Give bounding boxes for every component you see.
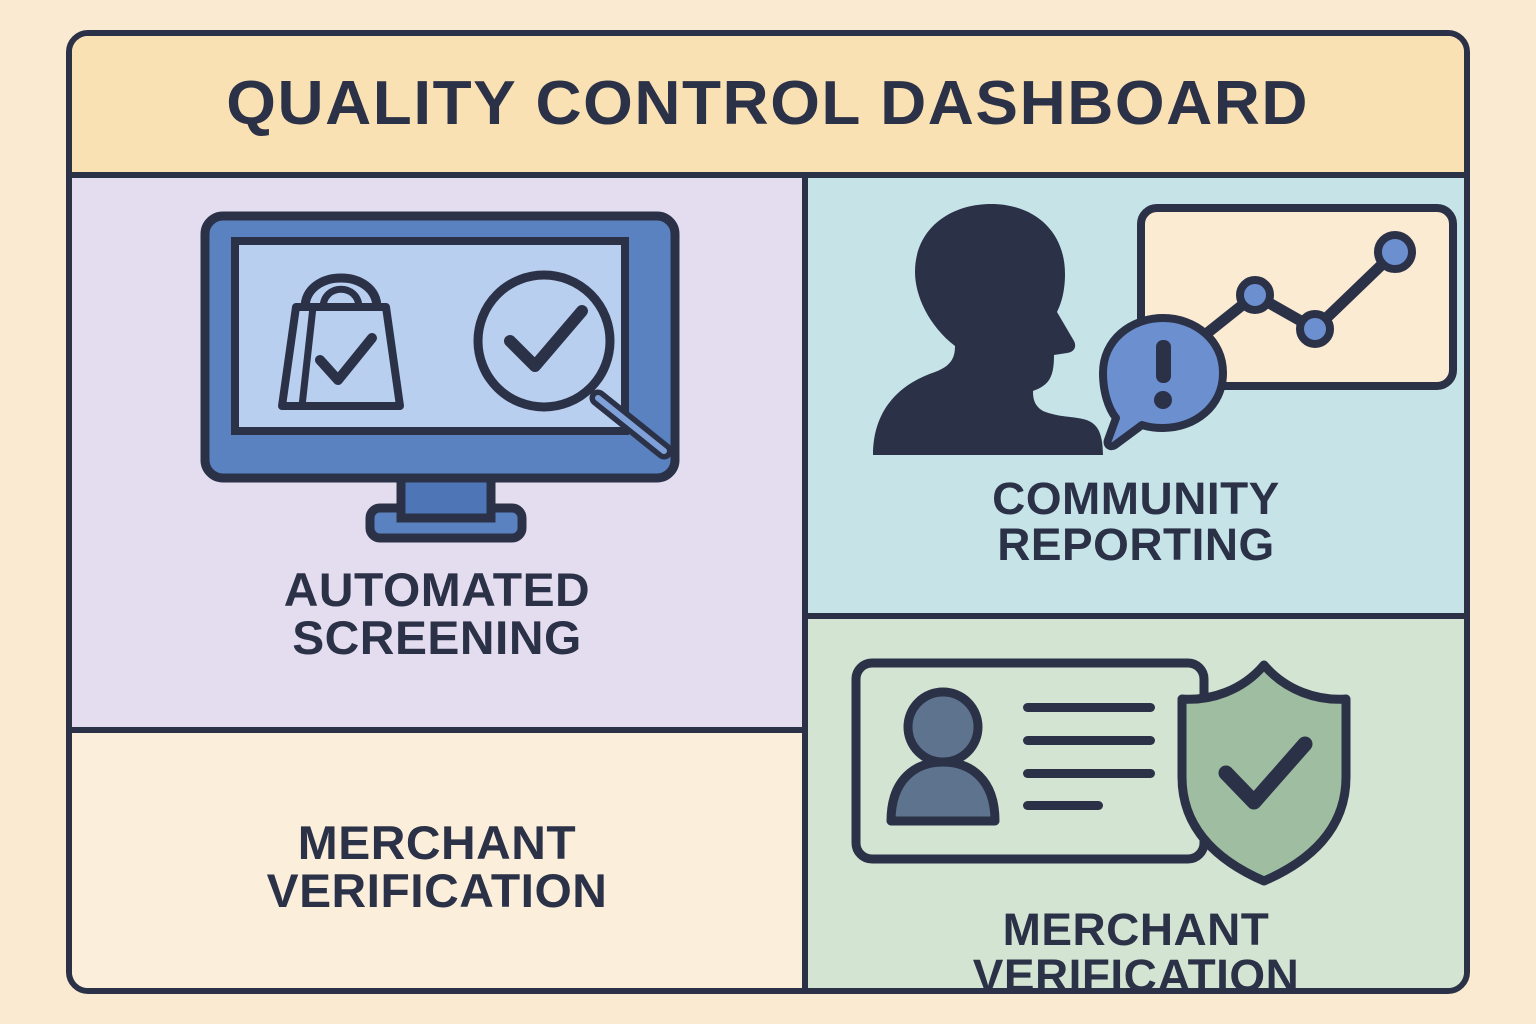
panel-label-line2: VERIFICATION <box>72 867 808 915</box>
panel-label-community-reporting: COMMUNITY REPORTING <box>808 476 1464 568</box>
chart-point-2 <box>1240 280 1270 310</box>
monitor-icon <box>192 208 692 553</box>
id-line-3 <box>1023 769 1155 778</box>
panels-grid: AUTOMATED SCREENING MERCHANT VERIFICATIO… <box>72 178 1464 988</box>
merchant-verification-icon <box>848 649 1408 894</box>
chart-point-3 <box>1300 314 1330 344</box>
automated-screening-icon <box>192 208 692 553</box>
community-reporting-icon <box>843 200 1463 465</box>
panel-community-reporting[interactable]: COMMUNITY REPORTING <box>808 178 1464 619</box>
panel-label-line1: AUTOMATED <box>72 566 808 614</box>
panel-label-automated-screening: AUTOMATED SCREENING <box>72 566 808 662</box>
id-line-1 <box>1023 703 1155 712</box>
id-line-4 <box>1023 801 1103 810</box>
panel-label-line2: SCREENING <box>72 614 808 662</box>
dashboard-header: QUALITY CONTROL DASHBOARD <box>72 36 1464 178</box>
panel-label-merchant-verification-left: MERCHANT VERIFICATION <box>72 819 808 915</box>
panel-merchant-verification-right[interactable]: MERCHANT VERIFICATION <box>808 619 1464 988</box>
panel-automated-screening[interactable]: AUTOMATED SCREENING <box>72 178 808 733</box>
page-title: QUALITY CONTROL DASHBOARD <box>227 73 1310 135</box>
panel-label-line1: MERCHANT <box>72 819 808 867</box>
id-card-icon <box>856 663 1204 859</box>
dashboard-card: QUALITY CONTROL DASHBOARD <box>66 30 1470 994</box>
chart-point-4 <box>1378 235 1412 269</box>
panel-label-merchant-verification-right: MERCHANT VERIFICATION <box>808 907 1464 988</box>
panel-merchant-verification-left[interactable]: MERCHANT VERIFICATION <box>72 733 808 988</box>
panel-label-line2: REPORTING <box>808 522 1464 568</box>
id-line-2 <box>1023 736 1155 745</box>
panel-label-line1: COMMUNITY <box>808 476 1464 522</box>
person-profile-icon <box>873 204 1103 455</box>
shield-check-icon <box>1182 665 1346 881</box>
alert-speech-bubble-icon <box>1103 318 1223 446</box>
panel-label-line2: VERIFICATION <box>808 953 1464 988</box>
panel-label-line1: MERCHANT <box>808 907 1464 953</box>
